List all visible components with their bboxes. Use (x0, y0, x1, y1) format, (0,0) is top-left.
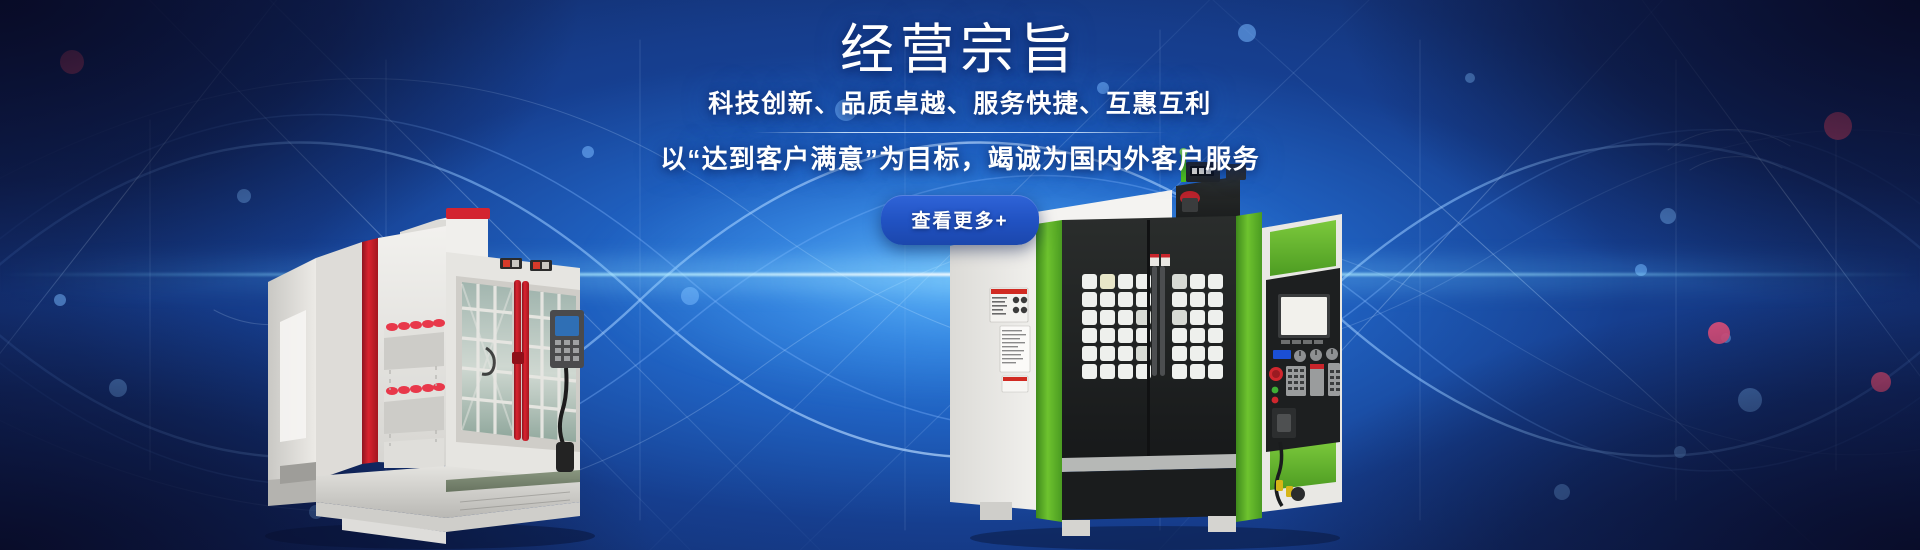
machine-right-pillar-right (1236, 212, 1262, 522)
machine-right-readout (1273, 350, 1291, 359)
machine-right-pillar-left (1036, 220, 1062, 522)
divider-rule (754, 132, 1166, 133)
machine-right-screen (1281, 297, 1327, 335)
machine-right-handle-a (1152, 266, 1157, 376)
view-more-button[interactable]: 查看更多+ (881, 195, 1038, 245)
banner-subline: 以“达到客户满意”为目标，竭诚为国内外客户服务 (0, 144, 1920, 175)
banner-copy: 经营宗旨 科技创新、品质卓越、服务快捷、互惠互利 以“达到客户满意”为目标，竭诚… (0, 22, 1920, 245)
banner-tagline: 科技创新、品质卓越、服务快捷、互惠互利 (0, 89, 1920, 119)
machine-right-handle-b (1160, 266, 1165, 376)
machine-left-red-pillar (362, 238, 378, 464)
hero-banner: 经营宗旨 科技创新、品质卓越、服务快捷、互惠互利 以“达到客户满意”为目标，竭诚… (0, 0, 1920, 550)
page-title: 经营宗旨 (0, 22, 1920, 79)
machine-right-control-pendant (1262, 214, 1342, 512)
cta-container: 查看更多+ (0, 195, 1920, 245)
machine-left-tool-shelves (384, 319, 445, 468)
